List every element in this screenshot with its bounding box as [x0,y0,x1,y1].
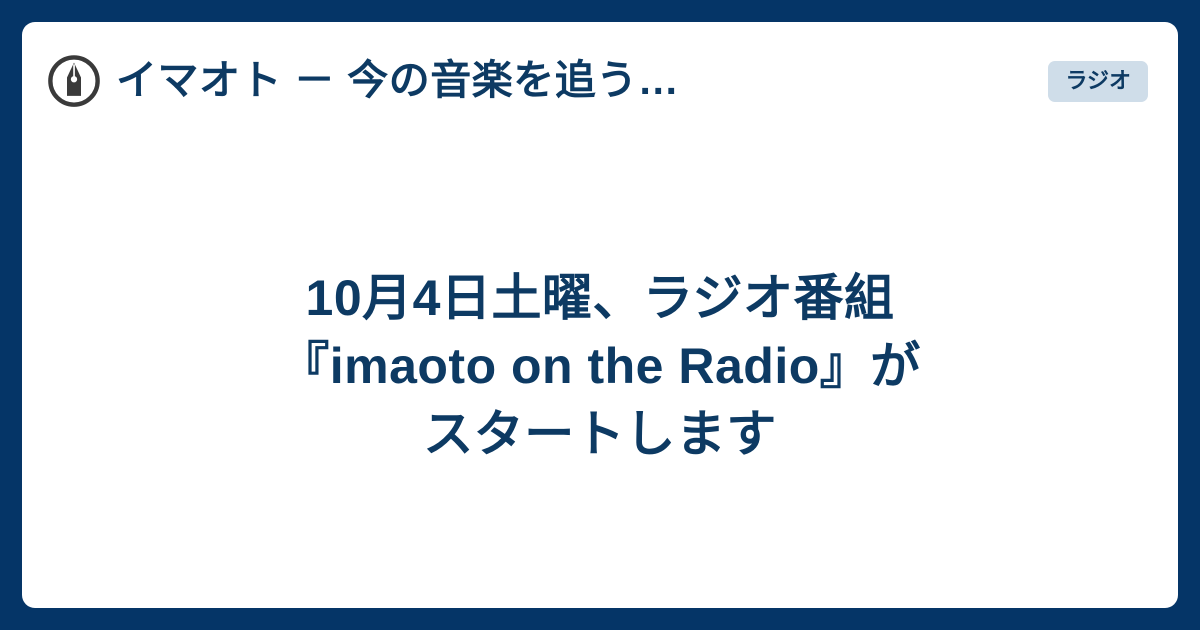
site-brand[interactable]: イマオト － 今の音楽を追う… [46,53,1028,109]
post-title-line: 『imaoto on the Radio』が [279,332,921,400]
site-header: イマオト － 今の音楽を追う… ラジオ [22,22,1178,140]
og-image-card: イマオト － 今の音楽を追う… ラジオ 10月4日土曜、ラジオ番組 『imaot… [22,22,1178,608]
category-badge[interactable]: ラジオ [1048,61,1148,102]
post-title: 10月4日土曜、ラジオ番組 『imaoto on the Radio』が スター… [279,264,921,468]
pen-nib-icon [46,53,102,109]
post-title-container: 10月4日土曜、ラジオ番組 『imaoto on the Radio』が スター… [22,140,1178,608]
site-title: イマオト － 今の音楽を追う… [116,57,679,104]
post-title-line: 10月4日土曜、ラジオ番組 [279,264,921,332]
post-title-line: スタートします [279,400,921,468]
